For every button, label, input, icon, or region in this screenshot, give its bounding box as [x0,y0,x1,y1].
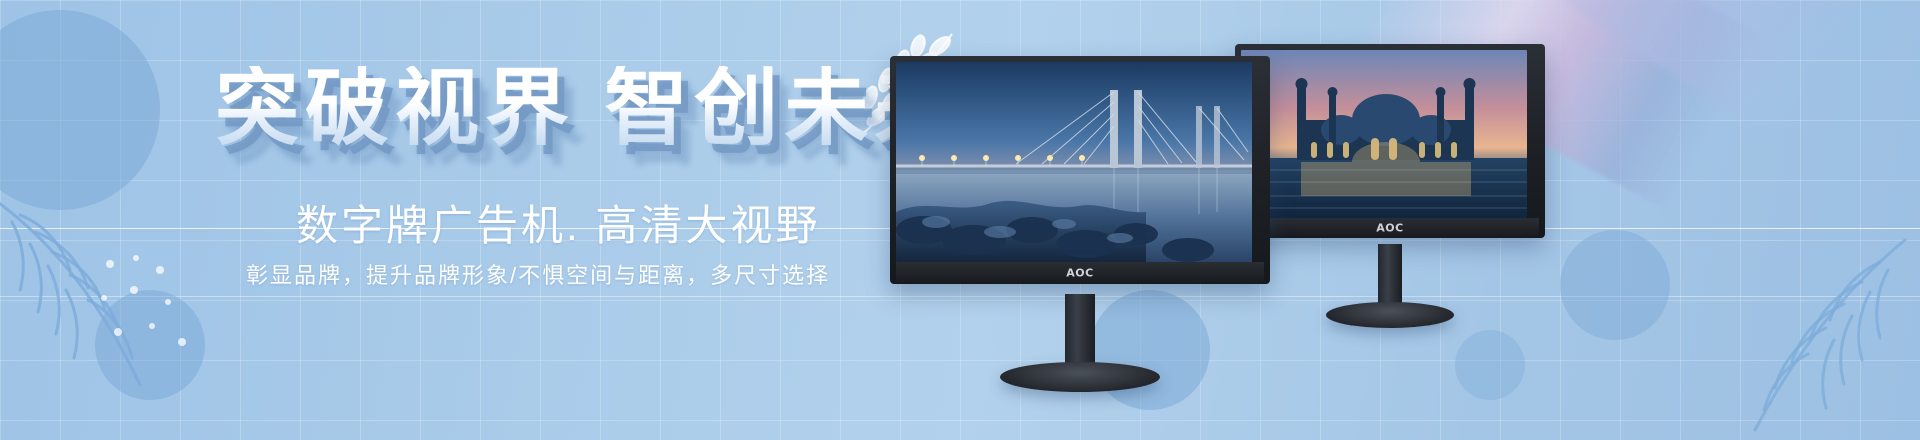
secondary-monitor-neck [1378,244,1402,310]
aoc-logo: AOC [1376,222,1403,235]
banner-copy: 突破视界 智创未来 数字牌广告机. 高清大视野 彰显品牌，提升品牌形象/不惧空间… [0,0,900,440]
aoc-logo: AOC [1066,267,1093,280]
secondary-monitor: AOC [1235,44,1545,238]
promo-banner: 突破视界 智创未来 数字牌广告机. 高清大视野 彰显品牌，提升品牌形象/不惧空间… [0,0,1920,440]
secondary-monitor-chin: AOC [1241,218,1539,238]
secondary-monitor-base [1326,302,1454,328]
primary-monitor: AOC [890,56,1270,284]
product-group: AOC [880,0,1920,440]
banner-tagline: 彰显品牌，提升品牌形象/不惧空间与距离，多尺寸选择 [246,258,830,290]
secondary-monitor-screen [1241,50,1527,218]
primary-monitor-screen [896,62,1252,262]
primary-monitor-base [1000,362,1160,392]
primary-monitor-neck [1065,294,1095,370]
page-title: 突破视界 智创未来 [215,66,964,150]
banner-subtitle: 数字牌广告机. 高清大视野 [296,192,820,253]
primary-monitor-chin: AOC [896,262,1264,284]
